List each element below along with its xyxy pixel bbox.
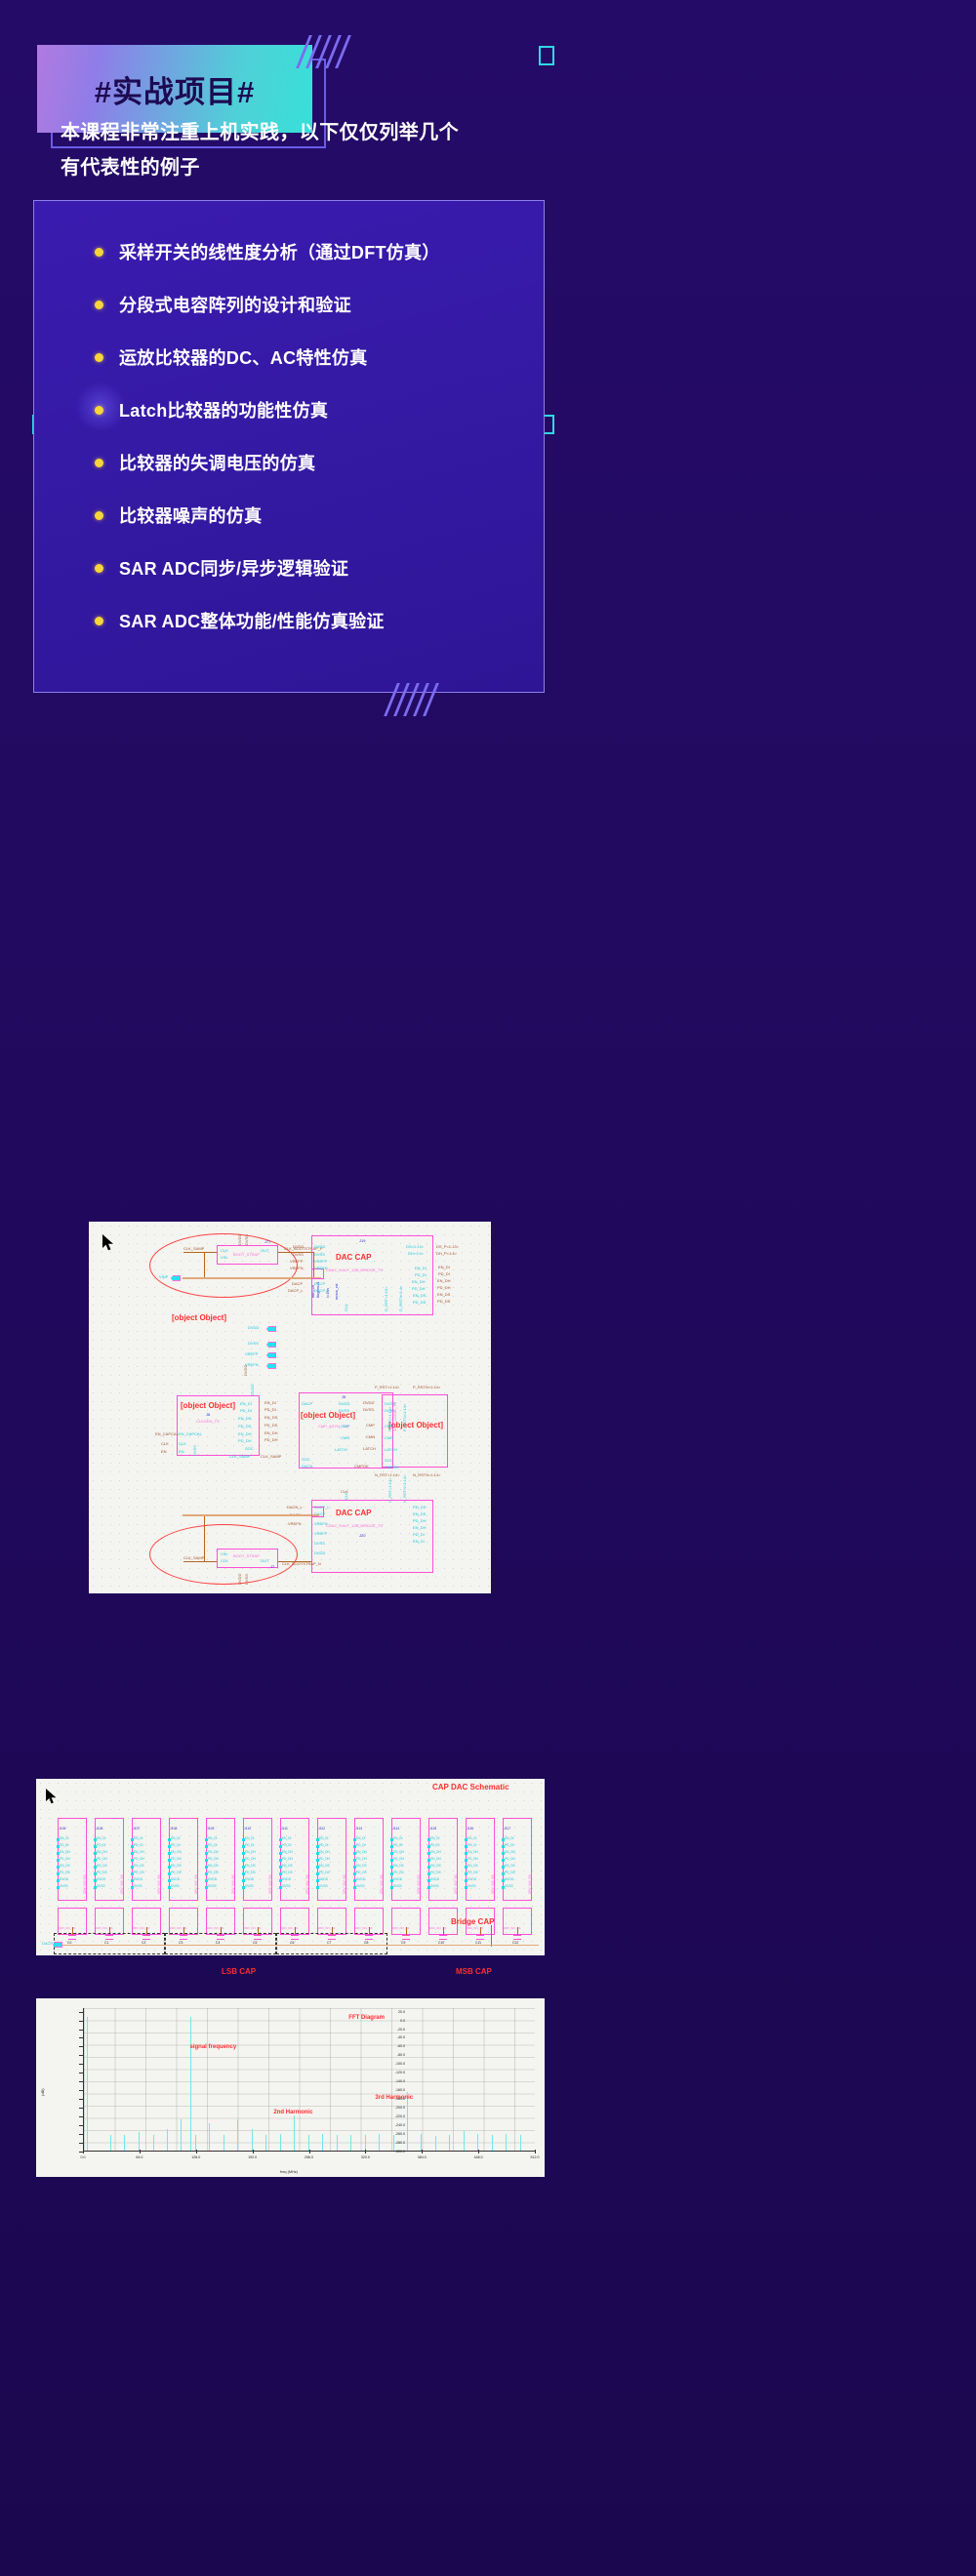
- cell-pin: PD_DH: [208, 1858, 219, 1861]
- fft-y-tick-label: -80.0: [44, 2053, 405, 2057]
- cell-driver-label: DRV_INV_BS: [269, 1874, 272, 1894]
- annotation-clock-generator: [object Object]: [181, 1402, 235, 1410]
- fft-spike: [209, 2123, 210, 2151]
- cell-pin-dot: [502, 1886, 505, 1889]
- list-item: SAR ADC同步/异步逻辑验证: [95, 554, 534, 582]
- net-pd-ds: PD_DS: [437, 1300, 450, 1304]
- net-n-rst: N_RST<1:14>: [375, 1473, 400, 1477]
- fft-y-tick-mark: [79, 2021, 83, 2022]
- cell-pin-dot: [242, 1866, 245, 1869]
- clockgen-pin-en: EN: [179, 1450, 184, 1454]
- cell-pin: PD_DS: [282, 1872, 293, 1874]
- annotation-dac-cap-top: DAC CAP: [336, 1254, 371, 1262]
- cell-pin: PD_DI: [97, 1844, 105, 1847]
- fft-y-tick-mark: [79, 2073, 83, 2073]
- cell-driver-label: DRV_INV_BS: [232, 1874, 235, 1894]
- cell-pin: EN_DH: [505, 1851, 515, 1854]
- fft-x-axis-title: freq (MHz): [280, 2170, 298, 2174]
- net-clk-dac-bottom: CLK: [341, 1490, 348, 1494]
- bootstrap-ref-label: J77: [264, 1240, 270, 1244]
- cell-driver-label: DRV_INV_BS: [492, 1874, 495, 1894]
- fft-y-tick-mark: [79, 2030, 83, 2031]
- net-p-rst: P_RST<1:14>: [375, 1386, 399, 1389]
- cell-pin-dot: [242, 1879, 245, 1882]
- cell-pin: DVSS: [171, 1885, 180, 1888]
- cell-pin-dot: [168, 1886, 171, 1889]
- cell-pin: DVSS: [468, 1885, 476, 1888]
- cell-pin-dot: [353, 1872, 356, 1875]
- bullet-label: 比较器噪声的仿真: [119, 503, 262, 528]
- fft-spike: [520, 2135, 521, 2151]
- net-dacn-l: DACN_L: [287, 1506, 303, 1509]
- cell-pin: PD_DH: [505, 1858, 515, 1861]
- dac-cap-top-out-en-dh: EN_DH: [412, 1280, 426, 1284]
- net-pd-dh-2: PD_DH: [264, 1438, 278, 1442]
- wire: [183, 1561, 217, 1562]
- net-pd-di: PD_DI: [438, 1272, 450, 1276]
- net-vrefn-dac-top: VREFN: [290, 1267, 304, 1270]
- cell-pin: EN_DS: [430, 1865, 441, 1868]
- port-label-dvss: DVSS: [248, 1342, 259, 1346]
- cell-pin-dot: [242, 1886, 245, 1889]
- cell-driver-label: DRV_INV_BS: [455, 1874, 458, 1894]
- port-label-dacp: DACP: [42, 1942, 53, 1946]
- cell-pin: DVDD: [430, 1878, 439, 1881]
- cell-pin-dot: [131, 1879, 134, 1882]
- cell-pin-dot: [279, 1852, 282, 1855]
- cell-pin-dot: [94, 1879, 97, 1882]
- cell-pin-dot: [502, 1872, 505, 1875]
- cap-dac-cell: J105EN_DIPD_DIEN_DHPD_DHEN_DSPD_DSDVDDDV…: [58, 1818, 87, 1901]
- fft-y-tick-mark: [79, 2090, 83, 2091]
- cell-pin: DVDD: [319, 1878, 328, 1881]
- fft-y-axis-title: (dB): [40, 2088, 45, 2096]
- cell-pin: EN_DH: [319, 1851, 330, 1854]
- dac-cap-bottom-pin-dvss: DVSS: [314, 1542, 325, 1546]
- wire: [204, 1252, 205, 1277]
- fft-x-tick-label: 512.0: [531, 2155, 540, 2159]
- cell-pin-dot: [465, 1845, 468, 1848]
- cell-pin: DVSS: [282, 1885, 291, 1888]
- dac-cap-top-pin-vrefn: VREFN: [314, 1267, 328, 1270]
- cell-driver-label: DRV_INV_BS: [306, 1874, 309, 1894]
- cap-dac-cell: J112EN_DIPD_DIEN_DHPD_DHEN_DSPD_DSDVDDDV…: [317, 1818, 346, 1901]
- cap-dac-cell: J115EN_DIPD_DIEN_DHPD_DHEN_DSPD_DSDVDDDV…: [428, 1818, 458, 1901]
- cell-pin: PD_DS: [60, 1872, 70, 1874]
- net-dvss-cmp: DVSS: [363, 1408, 374, 1412]
- cap-group-box: [276, 1933, 387, 1954]
- cell-pin: PD_DH: [134, 1858, 144, 1861]
- fft-x-tick-mark: [253, 2150, 254, 2153]
- cell-ref: J105: [59, 1828, 65, 1831]
- cell-pin-dot: [205, 1866, 208, 1869]
- cell-pin-dot: [316, 1879, 319, 1882]
- cell-pin-dot: [205, 1852, 208, 1855]
- cap-dac-cell: J111EN_DIPD_DIEN_DHPD_DHEN_DSPD_DSDVDDDV…: [280, 1818, 309, 1901]
- net-clk-samp-bottom: CLK_SAMP: [183, 1556, 204, 1560]
- net-dacp-dac-top: DACP: [292, 1282, 303, 1286]
- fft-y-tick-mark: [79, 2134, 83, 2135]
- comparator-pin-cmn: CMN: [341, 1436, 349, 1440]
- port-label-vinp: VINP: [159, 1275, 168, 1279]
- comparator-pin-cmp: CMP: [341, 1425, 349, 1429]
- cell-pin-dot: [279, 1845, 282, 1848]
- sarlogic-pin-cmpok: CMPOK: [385, 1466, 399, 1469]
- cell-pin-dot: [57, 1845, 60, 1848]
- figure-fft-diagram: FFT Diagramsignal frequency2nd Harmonic3…: [36, 1998, 545, 2177]
- dac-cap-top-pin-drst: D_RST<1:13>: [385, 1286, 388, 1311]
- cell-pin-dot: [242, 1838, 245, 1841]
- cell-pin: PD_DS: [97, 1872, 107, 1874]
- fft-y-tick-label: 20.0: [44, 2010, 405, 2014]
- cell-pin: PD_DH: [319, 1858, 330, 1861]
- cell-pin: DVDD: [468, 1878, 476, 1881]
- cell-pin: EN_DI: [208, 1837, 217, 1840]
- comparator-pin-soc: SOC: [302, 1458, 310, 1462]
- fft-x-tick-label: 320.0: [361, 2155, 370, 2159]
- cell-pin: PD_DH: [171, 1858, 182, 1861]
- cap-group-box: [54, 1933, 165, 1954]
- net-cmn: CMN: [366, 1435, 375, 1439]
- clockgen-pin-dvss: DVSS: [193, 1445, 197, 1456]
- cell-pin: PD_DI: [245, 1844, 254, 1847]
- fft-y-tick-label: -140.0: [44, 2079, 405, 2083]
- wire: [278, 1561, 311, 1562]
- list-item: Latch比较器的功能性仿真: [95, 396, 534, 423]
- cell-pin-dot: [427, 1866, 430, 1869]
- fft-y-tick-mark: [79, 2125, 83, 2126]
- cell-pin: EN_DS: [319, 1865, 330, 1868]
- cell-driver-label: DRV_INV_BS: [418, 1874, 421, 1894]
- cell-ref: J114: [392, 1828, 399, 1831]
- fft-x-tick-label: 384.0: [418, 2155, 427, 2159]
- cell-pin-dot: [390, 1852, 393, 1855]
- cell-pin: PD_DS: [319, 1872, 330, 1874]
- dac-cap-top-pin-vrefp: VREFP: [314, 1260, 327, 1264]
- cell-pin-dot: [168, 1838, 171, 1841]
- bullet-dot-icon: [95, 459, 103, 467]
- fft-x-tick-mark: [83, 2150, 84, 2153]
- dac-cap-bottom-subtitle: CDAC_HALF_12B_BRIDGE_TS: [326, 1524, 383, 1528]
- sarlogic-label-n-rstn: N_RSTN<1:14>: [403, 1475, 407, 1503]
- dac-cap-top-pin-dacp: DACP: [314, 1282, 325, 1286]
- bootstrap-bottom-pin-vin: VIN: [221, 1552, 227, 1556]
- cell-pin: PD_DI: [208, 1844, 217, 1847]
- cell-pin-dot: [279, 1872, 282, 1875]
- fft-y-tick-label: -300.0: [44, 2150, 405, 2153]
- port-label-dvdd: DVDD: [248, 1326, 259, 1330]
- cell-pin: EN_DH: [171, 1851, 182, 1854]
- cell-pin: PD_DS: [468, 1872, 478, 1874]
- bullet-label: Latch比较器的功能性仿真: [119, 397, 328, 423]
- dac-cap-top-out-pd-dh: PD_DH: [412, 1287, 426, 1291]
- cell-pin-dot: [94, 1886, 97, 1889]
- clockgen-ref: J6: [206, 1413, 210, 1417]
- net-dvss-dac-top: DVSS: [293, 1253, 304, 1257]
- cell-pin: EN_DH: [97, 1851, 107, 1854]
- cell-driver-label: DRV_INV_BS: [381, 1874, 384, 1894]
- cell-pin: PD_DH: [430, 1858, 441, 1861]
- fft-x-tick-label: 64.0: [136, 2155, 142, 2159]
- fft-y-tick-mark: [79, 2037, 83, 2038]
- cell-pin: EN_DS: [171, 1865, 182, 1868]
- badge-label: #实战项目#: [95, 67, 255, 111]
- cell-pin: PD_DI: [319, 1844, 328, 1847]
- cell-pin: EN_DH: [60, 1851, 70, 1854]
- bootstrap-bottom-ref: J7: [270, 1565, 274, 1569]
- cell-driver-label: DRV_INV_BS: [529, 1874, 532, 1894]
- cell-pin-dot: [316, 1845, 319, 1848]
- sarlogic-pin-soc: SOC: [385, 1459, 393, 1463]
- comparator-pin-dacn: DACN: [302, 1465, 312, 1469]
- cell-pin-dot: [57, 1879, 60, 1882]
- cell-pin-dot: [465, 1866, 468, 1869]
- cell-pin: EN_DI: [356, 1837, 365, 1840]
- dac-cap-top-pin-drstn: D_RSTN<1:4>: [399, 1286, 403, 1311]
- fft-x-tick-mark: [140, 2150, 141, 2153]
- fft-y-tick-mark: [79, 2081, 83, 2082]
- bootstrap-net-dvss: DVSS: [245, 1234, 249, 1245]
- fft-y-tick-label: -120.0: [44, 2071, 405, 2074]
- cell-pin-dot: [205, 1879, 208, 1882]
- cell-pin: DVSS: [430, 1885, 439, 1888]
- fft-y-tick-label: -240.0: [44, 2123, 405, 2127]
- cell-pin-dot: [57, 1859, 60, 1862]
- cell-pin-dot: [94, 1859, 97, 1862]
- cell-pin-dot: [279, 1866, 282, 1869]
- comparator-pin-latch: LATCH: [335, 1448, 347, 1452]
- fft-spike: [421, 2134, 422, 2151]
- cell-pin: PD_DI: [468, 1844, 476, 1847]
- cell-pin-dot: [502, 1852, 505, 1855]
- cell-pin: DVSS: [319, 1885, 328, 1888]
- cell-pin-dot: [131, 1886, 134, 1889]
- cap-dac-capacitor: C11: [473, 1935, 487, 1952]
- cell-pin: PD_DS: [505, 1872, 515, 1874]
- net-latch: LATCH: [363, 1447, 376, 1451]
- cell-pin: PD_DS: [134, 1872, 144, 1874]
- cell-pin-dot: [465, 1886, 468, 1889]
- clockgen-out-pd-ds: PD_DS: [238, 1425, 251, 1429]
- cap-dac-cell: J117EN_DIPD_DIEN_DHPD_DHEN_DSPD_DSDVDDDV…: [503, 1818, 532, 1901]
- net-pd-dh: PD_DH: [437, 1286, 451, 1290]
- dac-cap-bottom-out-pd-di: PD_DI: [413, 1533, 425, 1537]
- cell-pin: PD_DH: [356, 1858, 367, 1861]
- cell-pin: EN_DH: [282, 1851, 293, 1854]
- bullet-dot-icon: [95, 564, 103, 573]
- decorative-slashes-top: [303, 35, 345, 68]
- cell-pin: EN_DS: [356, 1865, 367, 1868]
- list-item: 运放比较器的DC、AC特性仿真: [95, 343, 534, 371]
- fft-x-tick-mark: [309, 2150, 310, 2153]
- fft-y-tick-mark: [79, 2055, 83, 2056]
- fft-y-tick-label: -220.0: [44, 2114, 405, 2118]
- cell-pin: EN_DH: [208, 1851, 219, 1854]
- cell-pin-dot: [242, 1859, 245, 1862]
- cell-ref: J107: [133, 1828, 140, 1831]
- dac-cap-top-subtitle: CDAC_HALF_12B_BRIDGE_TS: [326, 1268, 383, 1272]
- cell-pin: EN_DS: [282, 1865, 293, 1868]
- cell-pin-dot: [168, 1859, 171, 1862]
- net-en-dh: EN_DH: [437, 1279, 451, 1283]
- bootstrap-pin-out: OUT: [261, 1249, 268, 1253]
- cell-pin-dot: [168, 1866, 171, 1869]
- fft-spike: [464, 2131, 465, 2151]
- list-item: 比较器噪声的仿真: [95, 502, 534, 529]
- dac-cap-top-out-en-ds: EN_DS: [413, 1294, 426, 1298]
- fft-y-tick-label: -200.0: [44, 2106, 405, 2110]
- cell-pin: EN_DH: [393, 1851, 404, 1854]
- sarlogic-label-p-rstn: P_RSTN<1:14>: [403, 1404, 407, 1431]
- cell-pin: EN_DS: [505, 1865, 515, 1868]
- cell-pin: PD_DH: [282, 1858, 293, 1861]
- cap-dac-capacitor: C9: [399, 1935, 413, 1952]
- bullet-dot-icon: [95, 406, 103, 415]
- cell-driver-label: DRV_INV_BS: [195, 1874, 198, 1894]
- cell-pin-dot: [94, 1838, 97, 1841]
- cell-pin-dot: [316, 1838, 319, 1841]
- cap-dac-cell: J108EN_DIPD_DIEN_DHPD_DHEN_DSPD_DSDVDDDV…: [169, 1818, 198, 1901]
- cell-pin-dot: [94, 1852, 97, 1855]
- cell-pin: PD_DI: [356, 1844, 365, 1847]
- cell-ref: J108: [170, 1828, 177, 1831]
- dac-cap-bottom-out-pd-ds: PD_DS: [413, 1506, 426, 1509]
- cell-ref: J113: [355, 1828, 362, 1831]
- cell-pin-dot: [279, 1879, 282, 1882]
- cell-pin: EN_DS: [97, 1865, 107, 1868]
- bootstrap-net-dvdd: DVDD: [238, 1234, 242, 1245]
- fft-x-tick-label: 256.0: [305, 2155, 313, 2159]
- fft-y-tick-label: -180.0: [44, 2097, 405, 2101]
- cell-pin-dot: [57, 1872, 60, 1875]
- cell-pin-dot: [427, 1845, 430, 1848]
- cell-pin-dot: [502, 1879, 505, 1882]
- cell-pin-dot: [205, 1886, 208, 1889]
- comparator-pin-dvss: DVSS: [339, 1409, 349, 1413]
- dac-cap-top-out-pd-ds: PD_DS: [413, 1301, 426, 1305]
- fft-y-tick-label: 0.0: [44, 2019, 405, 2023]
- cell-pin: EN_DH: [245, 1851, 256, 1854]
- comparator-pin-dvdd: DVDD: [339, 1402, 349, 1406]
- bootstrap-bottom-net-dvdd: DVDD: [238, 1574, 242, 1585]
- cell-pin: PD_DH: [97, 1858, 107, 1861]
- intro-line-2: 有代表性的例子: [61, 150, 519, 185]
- cell-driver-label: DRV_INV_BS: [121, 1874, 124, 1894]
- dac-cap-top-pin-dacp-l: DACP_L: [314, 1289, 330, 1293]
- annotation-comparator: [object Object]: [301, 1412, 355, 1420]
- net-cmp: CMP: [366, 1424, 375, 1428]
- cell-driver-label: DRV_INV_BS: [158, 1874, 161, 1894]
- bootstrap-title: BOOT_STRAP: [233, 1253, 260, 1257]
- bullet-dot-icon: [95, 301, 103, 309]
- cell-pin-dot: [427, 1879, 430, 1882]
- cell-pin: PD_DS: [208, 1872, 219, 1874]
- bullet-list: 采样开关的线性度分析（通过DFT仿真） 分段式电容阵列的设计和验证 运放比较器的…: [95, 238, 534, 660]
- fft-y-tick-label: -60.0: [44, 2044, 405, 2048]
- cell-pin-dot: [94, 1845, 97, 1848]
- cell-driver-label: DRV_INV_BS: [344, 1874, 346, 1894]
- cell-pin: EN_DI: [393, 1837, 402, 1840]
- net-pd-di-2: PD_DI: [264, 1408, 276, 1412]
- fft-x-tick-mark: [196, 2150, 197, 2153]
- cell-ref: J117: [504, 1828, 510, 1831]
- cell-pin: DVDD: [356, 1878, 365, 1881]
- list-item: 分段式电容阵列的设计和验证: [95, 291, 534, 318]
- clockgen-net-dvdd: DVDD: [244, 1365, 248, 1376]
- fft-x-tick-label: 448.0: [474, 2155, 483, 2159]
- cell-pin: PD_DI: [60, 1844, 68, 1847]
- cell-pin: DVSS: [134, 1885, 142, 1888]
- cell-pin: DVSS: [356, 1885, 365, 1888]
- cell-pin-dot: [353, 1845, 356, 1848]
- cell-pin-dot: [316, 1852, 319, 1855]
- annotation-msb-cap: MSB CAP: [456, 1968, 492, 1976]
- dac-cap-bottom-pin-vrefn: VREFN: [314, 1522, 328, 1526]
- cell-pin: EN_DS: [393, 1865, 404, 1868]
- bullet-label: SAR ADC整体功能/性能仿真验证: [119, 608, 385, 633]
- intro-paragraph: 本课程非常注重上机实践，以下仅仅列举几个 有代表性的例子: [61, 115, 519, 185]
- net-dvdd-cmp: DVDD: [363, 1401, 374, 1405]
- sarlogic-subtitle: SAR_LOGIC_TS: [393, 1402, 397, 1431]
- cell-pin: DVDD: [505, 1878, 513, 1881]
- cell-pin: EN_DS: [245, 1865, 256, 1868]
- bootstrap-pin-clk: CLK: [221, 1249, 228, 1253]
- cell-pin-dot: [427, 1886, 430, 1889]
- fft-y-tick-mark: [79, 2046, 83, 2047]
- cell-pin: EN_DI: [430, 1837, 439, 1840]
- cell-pin-dot: [502, 1859, 505, 1862]
- fft-y-tick-mark: [79, 2116, 83, 2117]
- cell-pin-dot: [353, 1879, 356, 1882]
- cell-pin-dot: [205, 1872, 208, 1875]
- cap-dac-cell: J106EN_DIPD_DIEN_DHPD_DHEN_DSPD_DSDVDDDV…: [95, 1818, 124, 1901]
- clockgen-out-clk-samp: CLK_SAMP: [229, 1455, 250, 1459]
- clockgen-subtitle: CLKGEN_TS: [196, 1420, 220, 1424]
- net-en-capcal: EN_CAPCAL: [155, 1432, 179, 1436]
- cell-pin: PD_DI: [134, 1844, 142, 1847]
- bullet-label: 运放比较器的DC、AC特性仿真: [119, 344, 368, 370]
- cell-pin-dot: [57, 1866, 60, 1869]
- cell-pin-dot: [390, 1866, 393, 1869]
- cell-pin: PD_DH: [245, 1858, 256, 1861]
- cell-pin-dot: [131, 1866, 134, 1869]
- annotation-bootstrap-switch: [object Object]: [172, 1314, 226, 1322]
- wire-dacp-rail: [56, 1945, 539, 1946]
- net-pd-ds-2: PD_DS: [264, 1424, 277, 1428]
- cell-pin: DVDD: [97, 1878, 105, 1881]
- cell-pin-dot: [353, 1886, 356, 1889]
- net-vrefp-dac-top: VREFP: [290, 1260, 303, 1264]
- cell-pin: PD_DH: [393, 1858, 404, 1861]
- cell-pin-dot: [465, 1838, 468, 1841]
- bullet-label: 分段式电容阵列的设计和验证: [119, 292, 351, 317]
- cell-pin: DVDD: [208, 1878, 217, 1881]
- cell-pin: EN_DH: [356, 1851, 367, 1854]
- dac-cap-top-out-ds: DS<1:13>: [406, 1245, 424, 1249]
- cell-pin: PD_DS: [393, 1872, 404, 1874]
- cell-pin-dot: [390, 1872, 393, 1875]
- cell-pin: DVSS: [393, 1885, 402, 1888]
- cell-pin: DVDD: [393, 1878, 402, 1881]
- cell-pin: EN_DH: [468, 1851, 478, 1854]
- port-label-vrefp: VREFP: [245, 1352, 258, 1356]
- fft-x-tick-mark: [365, 2150, 366, 2153]
- cell-pin-dot: [168, 1879, 171, 1882]
- cell-pin-dot: [390, 1859, 393, 1862]
- cell-ref: J111: [281, 1828, 288, 1831]
- sarlogic-label-p-rst: P_RST<1:14>: [388, 1407, 392, 1431]
- cell-pin: PD_DI: [282, 1844, 291, 1847]
